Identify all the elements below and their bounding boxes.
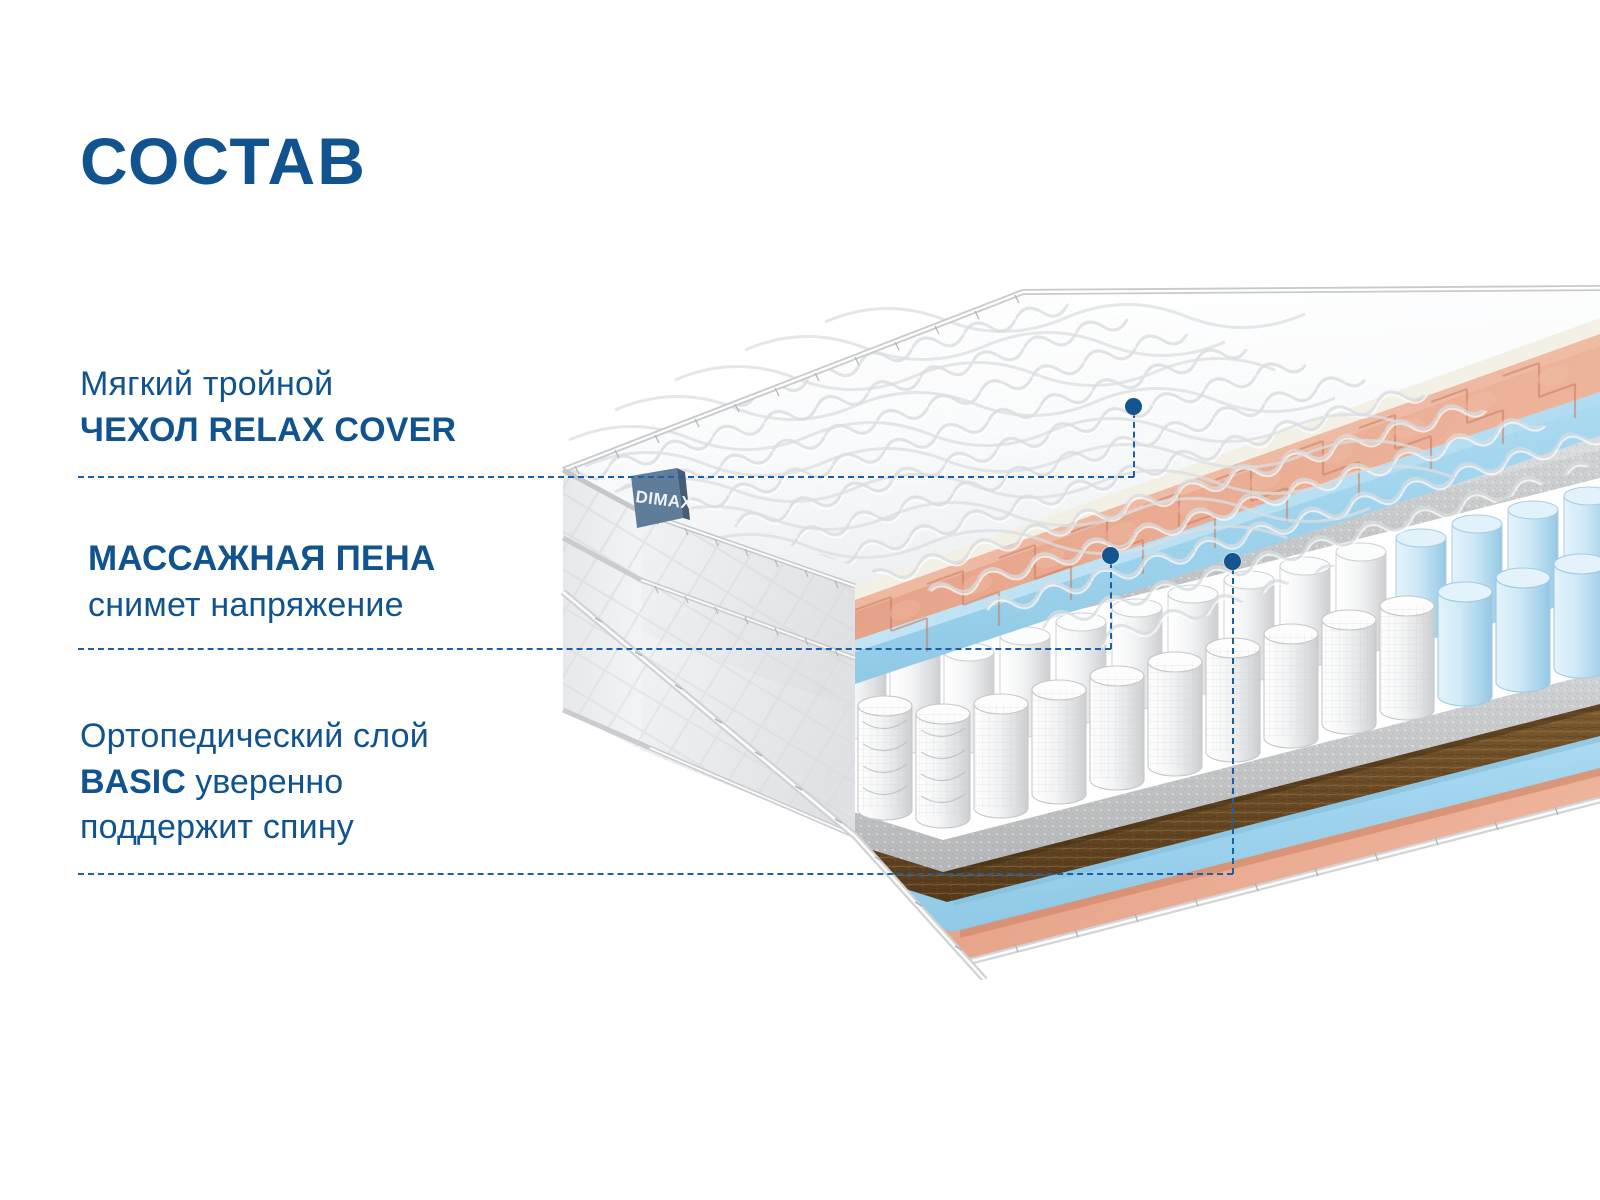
callout-massage-foam: МАССАЖНАЯ ПЕНА снимет напряжение [88,536,435,628]
leader-foam-vertical [1110,562,1112,649]
leader-foam-horizontal [78,648,1111,650]
leader-basic-vertical [1232,568,1234,874]
callout-cover: Мягкий тройной ЧЕХОЛ RELAX COVER [80,362,456,453]
callout-basic-keyword: BASIC [80,763,186,801]
callout-basic-line2: BASIC уверенно [80,760,429,806]
infographic-canvas: СОСТАВ [0,0,1600,1200]
callout-basic-layer: Ортопедический слой BASIC уверенно подде… [80,714,429,851]
leader-cover-horizontal [78,476,1134,478]
callout-basic-line2-rest: уверенно [186,763,343,801]
callout-basic-line1: Ортопедический слой [80,714,429,760]
leader-cover-vertical [1133,412,1135,477]
callout-cover-line1: Мягкий тройной [80,362,456,408]
callout-foam-line1: МАССАЖНАЯ ПЕНА [88,536,435,583]
callout-basic-line3: поддержит спину [80,805,429,851]
leader-basic-horizontal [78,873,1233,875]
leader-basic-dot [1224,553,1241,570]
leader-cover-dot [1125,398,1142,415]
page-title: СОСТАВ [80,128,367,194]
leader-foam-dot [1102,547,1119,564]
callout-cover-line2: ЧЕХОЛ RELAX COVER [80,408,456,454]
callout-foam-line2: снимет напряжение [88,583,435,629]
mattress-cutaway-illustration: DIMAX [555,280,1600,980]
